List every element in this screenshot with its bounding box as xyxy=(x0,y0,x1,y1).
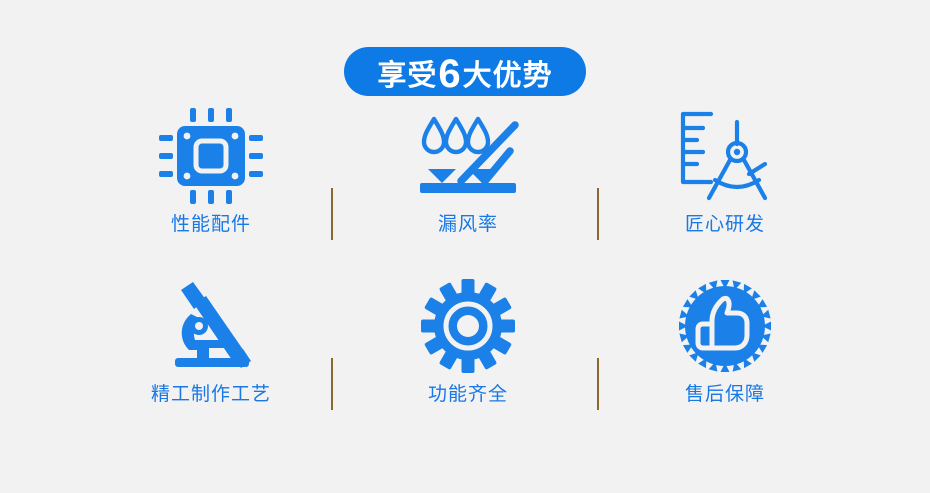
water-drops-leakage-icon xyxy=(416,108,520,203)
headline-prefix: 享受 xyxy=(377,62,437,91)
headline-text: 享受6大优势 xyxy=(377,52,552,92)
cpu-chip-icon xyxy=(159,108,263,203)
feature-grid: 性能配件 xyxy=(0,108,930,448)
feature-row-2: 精工制作工艺 xyxy=(0,278,930,448)
feature-item-craft-rnd[interactable]: 匠心研发 xyxy=(597,108,853,278)
feature-label: 售后保障 xyxy=(685,385,765,404)
feature-row-1: 性能配件 xyxy=(0,108,930,278)
gear-icon xyxy=(420,278,516,373)
feature-label: 功能齐全 xyxy=(428,385,508,404)
feature-item-fine-workmanship[interactable]: 精工制作工艺 xyxy=(83,278,339,448)
feature-item-air-leakage[interactable]: 漏风率 xyxy=(340,108,596,278)
headline-banner: 享受6大优势 xyxy=(344,47,586,96)
feature-item-full-function[interactable]: 功能齐全 xyxy=(340,278,596,448)
feature-label: 性能配件 xyxy=(171,215,251,234)
feature-label: 漏风率 xyxy=(438,215,498,234)
headline-suffix: 大优势 xyxy=(463,62,553,91)
thumbs-up-badge-icon xyxy=(678,278,772,373)
feature-item-performance-parts[interactable]: 性能配件 xyxy=(83,108,339,278)
feature-item-after-sales[interactable]: 售后保障 xyxy=(597,278,853,448)
headline-number: 6 xyxy=(437,54,462,94)
ruler-compass-icon xyxy=(675,108,775,203)
feature-label: 精工制作工艺 xyxy=(151,385,271,404)
feature-showcase-page: 享受6大优势 xyxy=(0,0,930,493)
feature-label: 匠心研发 xyxy=(685,215,765,234)
microscope-icon xyxy=(161,278,261,373)
